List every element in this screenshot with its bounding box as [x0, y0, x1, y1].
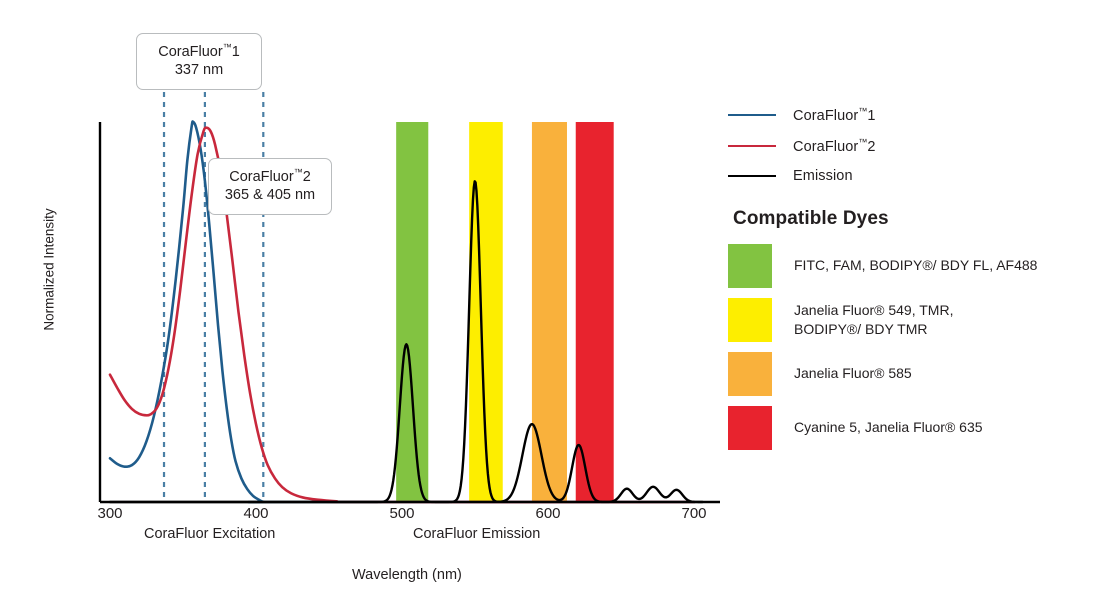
dye-item-label: Janelia Fluor® 585 — [794, 364, 912, 383]
dye-label-line-0: Cyanine 5, Janelia Fluor® 635 — [794, 418, 983, 437]
corafluor2-callout-value: 365 & 405 nm — [221, 186, 319, 204]
trademark-icon: ™ — [858, 106, 867, 116]
x-tick-400: 400 — [226, 505, 286, 522]
corafluor2-callout-title: CoraFluor™2 — [221, 167, 319, 186]
y-axis-title: Normalized Intensity — [42, 190, 57, 350]
series-legend: CoraFluor™1CoraFluor™2Emission — [728, 106, 1098, 184]
dye-item-3: Cyanine 5, Janelia Fluor® 635 — [728, 406, 1098, 450]
dye-label-line-1: BODIPY®/ BDY TMR — [794, 320, 953, 339]
red-band — [576, 122, 614, 502]
dye-item-label: FITC, FAM, BODIPY®/ BDY FL, AF488 — [794, 256, 1037, 275]
legend-panel: CoraFluor™1CoraFluor™2Emission Compatibl… — [728, 106, 1098, 460]
dye-color-swatch — [728, 244, 772, 288]
dye-label-line-0: Janelia Fluor® 585 — [794, 364, 912, 383]
dye-label-line-0: FITC, FAM, BODIPY®/ BDY FL, AF488 — [794, 256, 1037, 275]
x-axis-title: Wavelength (nm) — [352, 567, 462, 583]
legend-item-label: CoraFluor™1 — [793, 106, 876, 124]
dye-label-line-0: Janelia Fluor® 549, TMR, — [794, 301, 953, 320]
compatible-dyes-list: FITC, FAM, BODIPY®/ BDY FL, AF488Janelia… — [728, 244, 1098, 450]
dye-color-swatch — [728, 406, 772, 450]
dye-color-swatch — [728, 298, 772, 342]
trademark-icon: ™ — [294, 167, 303, 177]
legend-item-label: Emission — [793, 168, 853, 184]
compatible-dyes-title: Compatible Dyes — [733, 208, 1098, 230]
x-tick-300: 300 — [80, 505, 140, 522]
orange-band — [532, 122, 567, 502]
trademark-icon: ™ — [223, 42, 232, 52]
trademark-icon: ™ — [858, 137, 867, 147]
legend-item-2: Emission — [728, 168, 1098, 184]
x-tick-600: 600 — [518, 505, 578, 522]
dye-item-2: Janelia Fluor® 585 — [728, 352, 1098, 396]
legend-item-0: CoraFluor™1 — [728, 106, 1098, 124]
dye-item-0: FITC, FAM, BODIPY®/ BDY FL, AF488 — [728, 244, 1098, 288]
legend-swatch-line — [728, 145, 776, 147]
corafluor1-callout-value: 337 nm — [149, 61, 249, 79]
excitation-region-caption: CoraFluor Excitation — [144, 526, 275, 542]
green-band — [396, 122, 428, 502]
legend-swatch-line — [728, 114, 776, 116]
fluorescence-spectra-figure: Normalized Intensity CoraFluor Excitatio… — [0, 0, 1110, 612]
x-tick-500: 500 — [372, 505, 432, 522]
emission-region-caption: CoraFluor Emission — [413, 526, 540, 542]
legend-item-1: CoraFluor™2 — [728, 137, 1098, 155]
corafluor2-callout: CoraFluor™2 365 & 405 nm — [208, 158, 332, 215]
dye-item-label: Janelia Fluor® 549, TMR,BODIPY®/ BDY TMR — [794, 301, 953, 338]
legend-swatch-line — [728, 175, 776, 177]
corafluor1-callout: CoraFluor™1 337 nm — [136, 33, 262, 90]
dye-color-swatch — [728, 352, 772, 396]
dye-item-1: Janelia Fluor® 549, TMR,BODIPY®/ BDY TMR — [728, 298, 1098, 342]
corafluor1-callout-title: CoraFluor™1 — [149, 42, 249, 61]
legend-item-label: CoraFluor™2 — [793, 137, 876, 155]
x-tick-700: 700 — [664, 505, 724, 522]
dye-item-label: Cyanine 5, Janelia Fluor® 635 — [794, 418, 983, 437]
